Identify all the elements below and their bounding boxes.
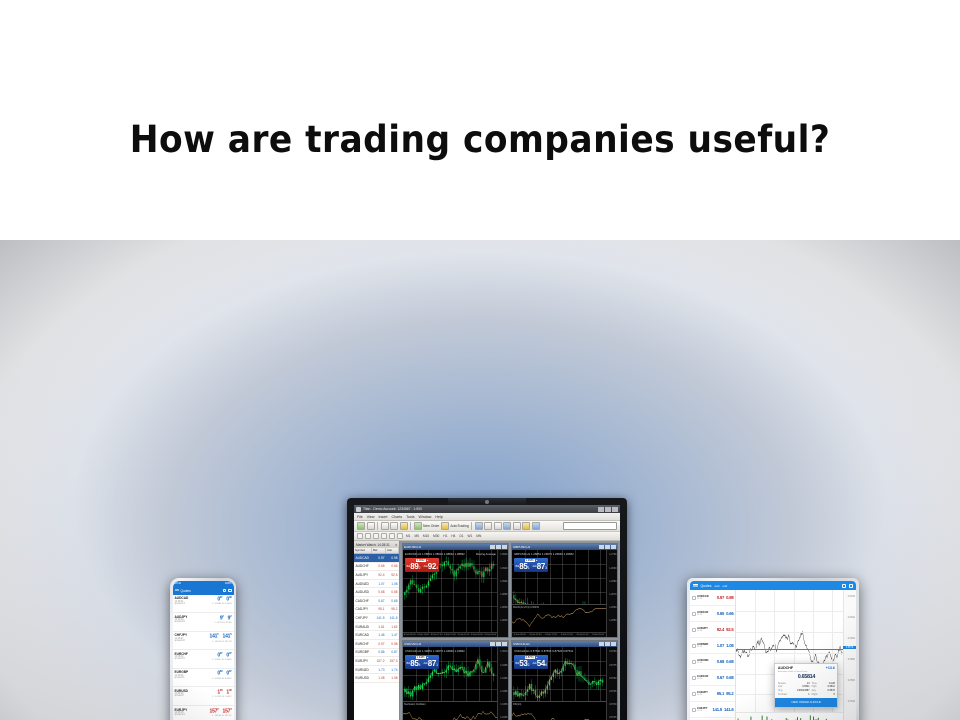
slide-root: How are trading companies useful? 10:42 … bbox=[0, 0, 960, 720]
photo-vignette bbox=[0, 240, 960, 720]
title-band: How are trading companies useful? bbox=[0, 0, 960, 240]
page-title: How are trading companies useful? bbox=[34, 118, 927, 161]
devices-photo: 10:42 100% Quotes AUDCAD14:28:31spread 1… bbox=[0, 240, 960, 720]
